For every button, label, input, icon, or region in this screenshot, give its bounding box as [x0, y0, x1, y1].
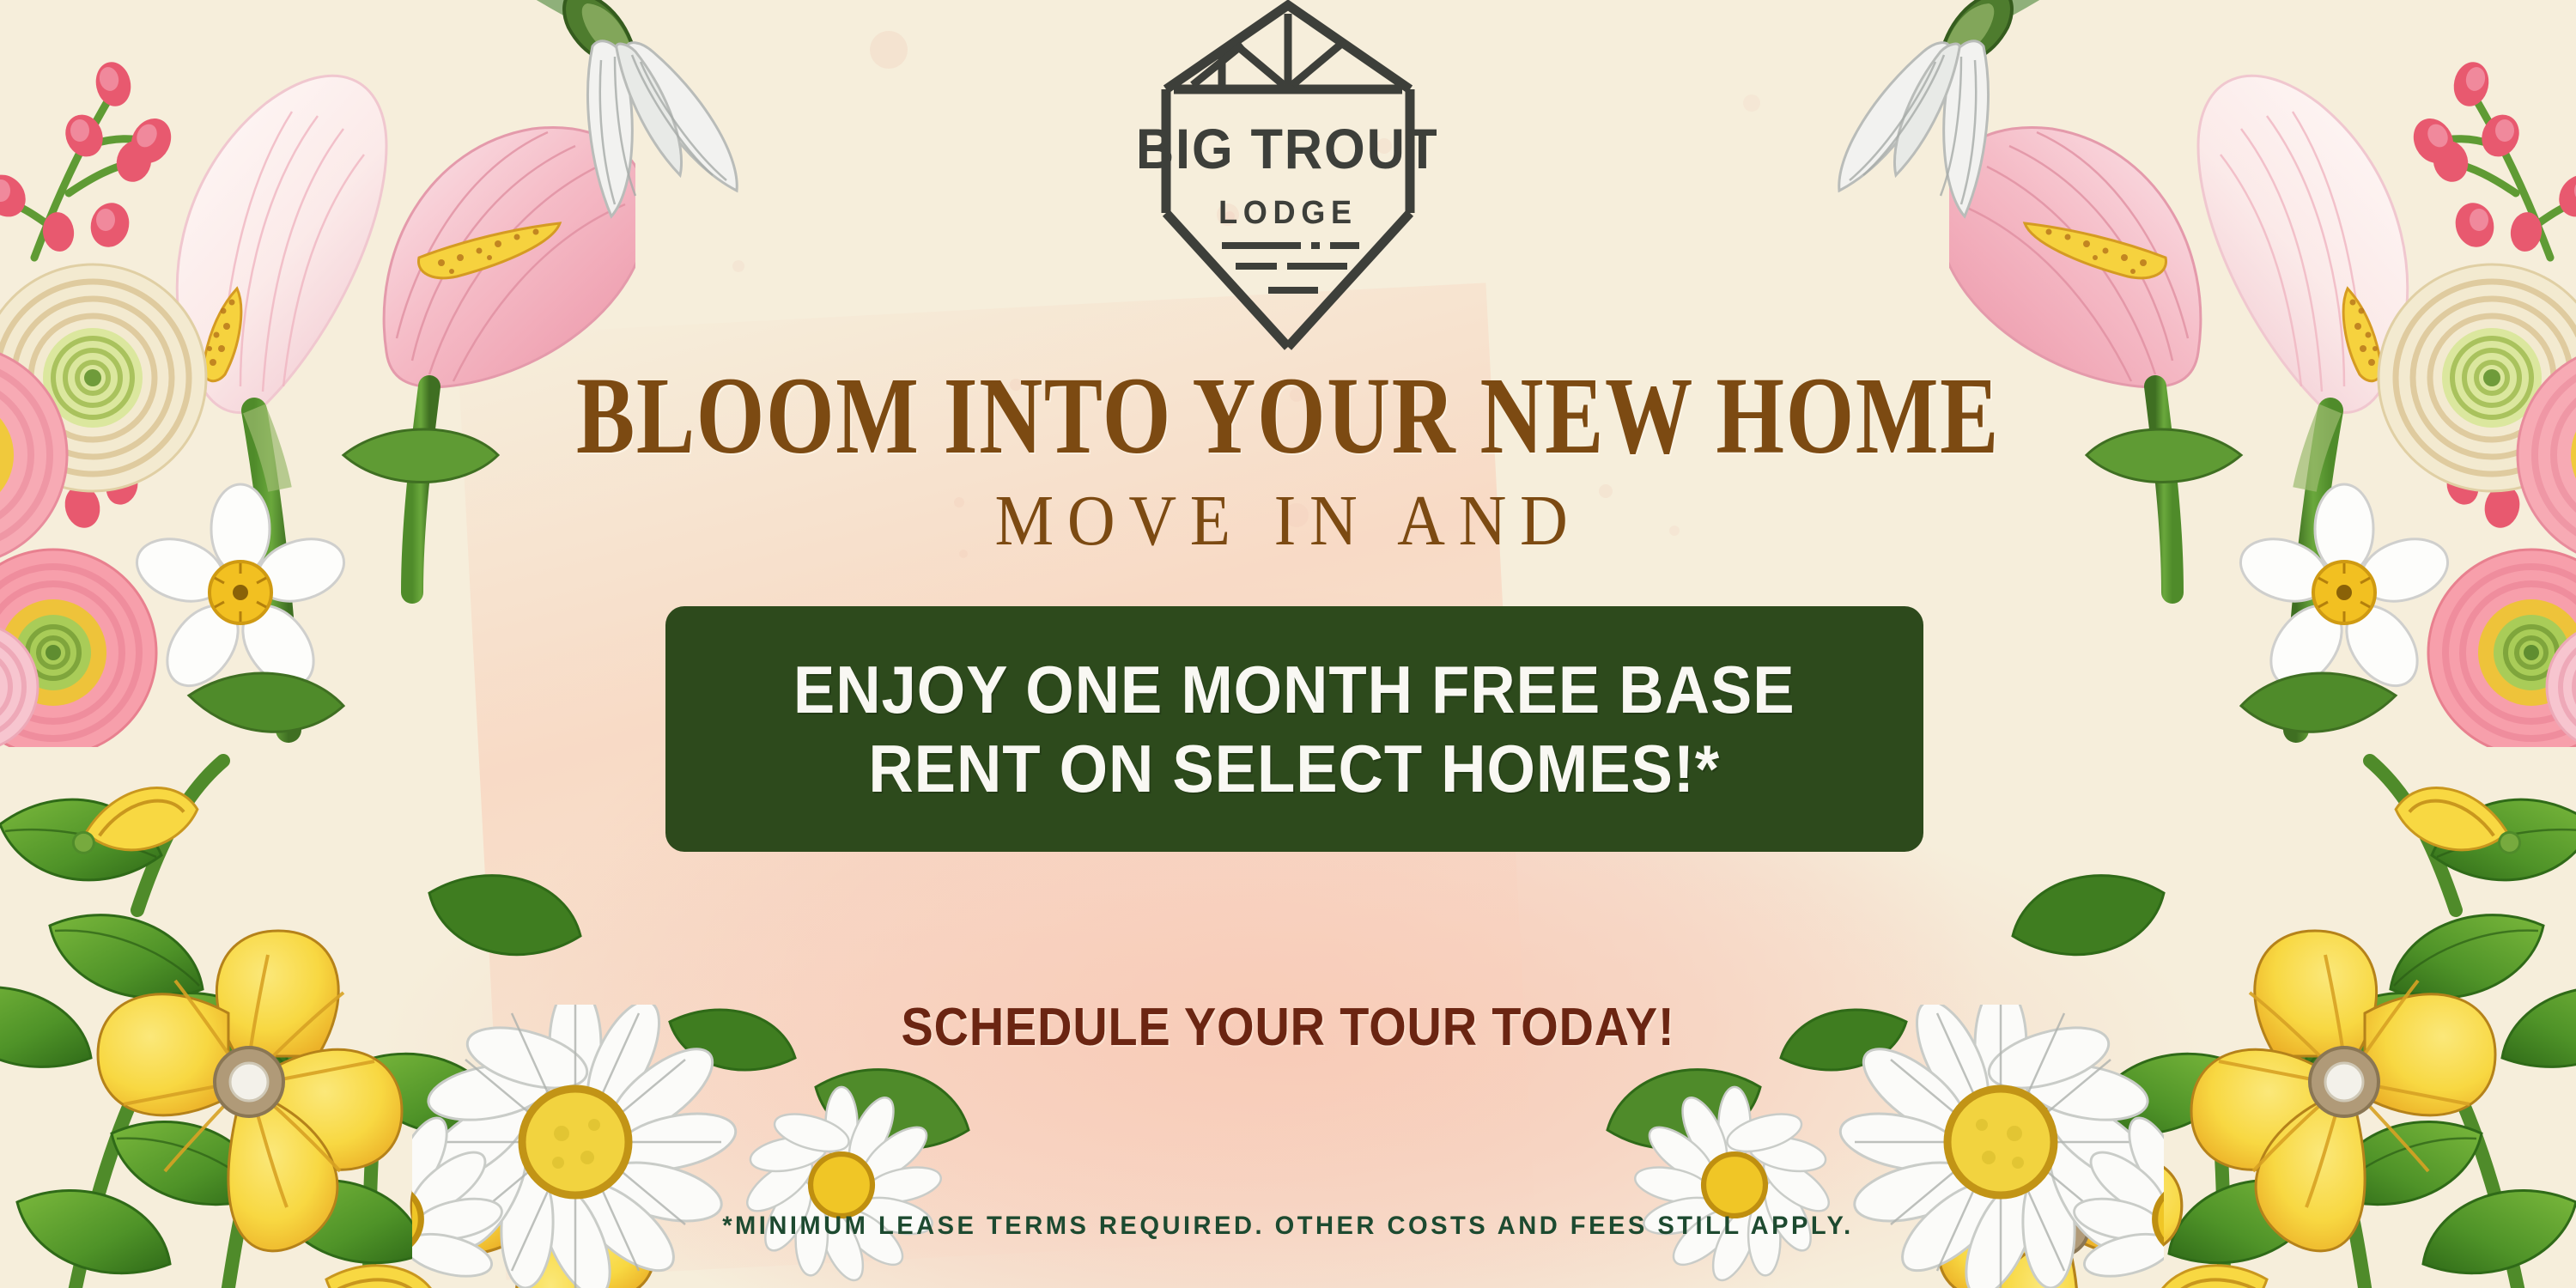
- promo-banner: BIG TROUT LODGE: [0, 0, 2576, 1288]
- snowdrop-petals: [588, 41, 738, 216]
- fine-print: *MINIMUM LEASE TERMS REQUIRED. OTHER COS…: [39, 1213, 2537, 1239]
- floral-cluster-bottom-right: [1889, 550, 2576, 1288]
- offer-callout-box: ENJOY ONE MONTH FREE BASE RENT ON SELECT…: [665, 606, 1923, 852]
- yellow-primrose: [98, 931, 402, 1251]
- snowdrop-left: [515, 0, 799, 258]
- cta-text[interactable]: SCHEDULE YOUR TOUR TODAY!: [129, 1001, 2447, 1054]
- white-daisy: [739, 1087, 944, 1286]
- floral-cluster-bottom-left: [0, 550, 704, 1288]
- pink-ranunculus: [0, 550, 156, 747]
- yellow-bud: [64, 775, 204, 871]
- small-pink-rosette: [0, 623, 38, 747]
- pink-buds-branch: [0, 94, 151, 258]
- offer-line-2: RENT ON SELECT HOMES!*: [869, 735, 1721, 802]
- logo-text-primary: BIG TROUT: [1139, 117, 1437, 181]
- bud-highlight: [0, 65, 161, 231]
- snowdrop-right: [1777, 0, 2061, 258]
- snowdrop-calyx: [564, 0, 635, 61]
- green-leaf: [189, 429, 498, 732]
- snowdrop-stem: [515, 0, 589, 21]
- offer-line-1: ENJOY ONE MONTH FREE BASE: [793, 656, 1795, 723]
- bud: [0, 58, 179, 532]
- page-headline: BLOOM INTO YOUR NEW HOME: [258, 361, 2318, 471]
- yellow-primrose: [411, 1107, 654, 1288]
- yellow-bud: [319, 1254, 449, 1288]
- brand-logo: BIG TROUT LODGE: [1139, 0, 1437, 362]
- logo-text-secondary: LODGE: [1218, 193, 1358, 230]
- pink-ranunculus: [0, 345, 67, 565]
- spadix: [203, 289, 241, 381]
- logo-water-lines: [1222, 246, 1359, 290]
- white-daisy: [412, 1106, 506, 1285]
- spadix: [418, 223, 560, 278]
- page-subheadline: MOVE IN AND: [103, 485, 2473, 557]
- pink-calla-lily: [384, 128, 635, 387]
- cream-ranunculus: [0, 264, 206, 491]
